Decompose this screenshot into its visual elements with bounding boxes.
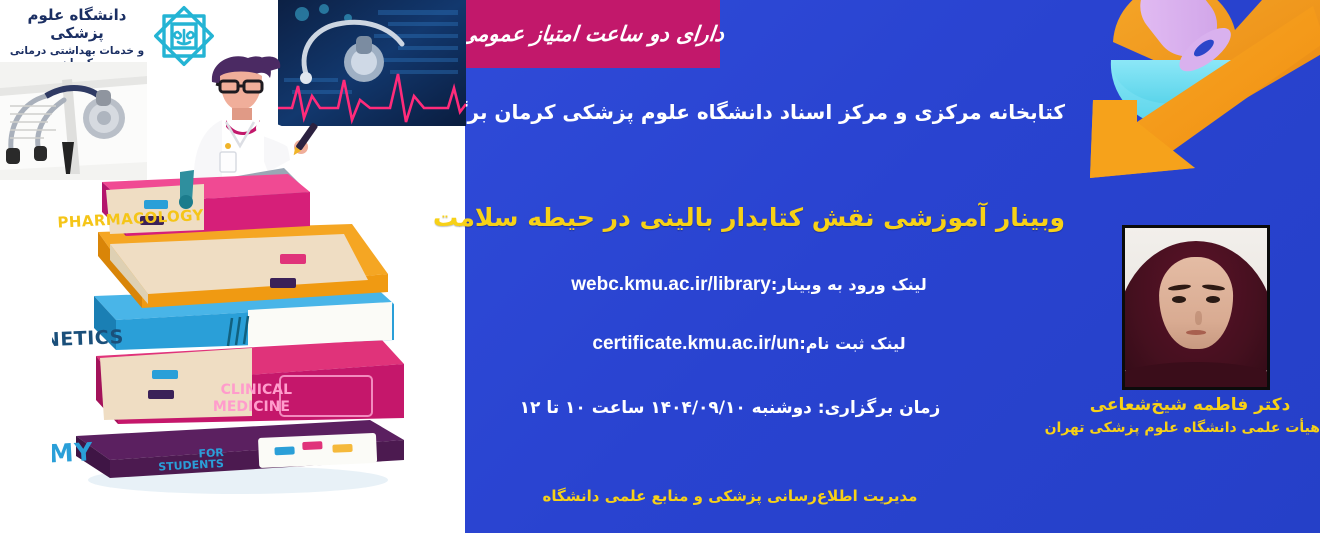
event-time-row: زمان برگزاری: دوشنبه ۱۴۰۴/۰۹/۱۰ ساعت ۱۰ … bbox=[450, 398, 1010, 418]
university-logo-line1: دانشگاه علوم پزشکی bbox=[2, 6, 152, 42]
webinar-poster: دارای دو ساعت امتیاز عمومی کتابخانه مرکز… bbox=[0, 0, 1320, 533]
department-footer: مدیریت اطلاع‌رسانی پزشکی و منابع علمی دا… bbox=[450, 487, 1010, 505]
webinar-link-row: لینک ورود به وبینار:webc.kmu.ac.ir/libra… bbox=[465, 274, 1025, 296]
stethoscope-on-book-photo bbox=[0, 62, 147, 180]
registration-link-value[interactable]: certificate.kmu.ac.ir/un bbox=[592, 333, 799, 354]
svg-text:ANATOMY: ANATOMY bbox=[52, 437, 94, 474]
book-stack-illustration: ANATOMY FOR STUDENTS CLINICAL MEDICINE M… bbox=[52, 168, 424, 498]
page-title: وبینار آموزشی نقش کتابدار بالینی در حیطه… bbox=[465, 203, 1065, 232]
university-logo-text: دانشگاه علوم پزشکی و خدمات بهداشتی درمان… bbox=[2, 6, 152, 68]
speaker-affiliation: هیأت علمی دانشگاه علوم پزشکی تهران bbox=[1050, 420, 1320, 436]
general-credit-banner: دارای دو ساعت امتیاز عمومی bbox=[465, 0, 720, 68]
registration-link-label: لینک ثبت نام: bbox=[799, 334, 905, 353]
svg-text:MEDICAL GENETICS: MEDICAL GENETICS bbox=[52, 326, 124, 357]
abstract-3d-decoration-icon bbox=[1075, 0, 1320, 207]
svg-text:MEDICINE: MEDICINE bbox=[213, 399, 290, 415]
webinar-link-label: لینک ورود به وبینار: bbox=[771, 275, 927, 294]
organizer-line: کتابخانه مرکزی و مرکز اسناد دانشگاه علوم… bbox=[465, 100, 1065, 124]
speaker-photo bbox=[1122, 225, 1270, 390]
registration-link-row: لینک ثبت نام:certificate.kmu.ac.ir/un bbox=[465, 333, 1025, 355]
speaker-name: دکتر فاطمه شیخ‌شعاعی bbox=[1060, 395, 1320, 415]
webinar-link-value[interactable]: webc.kmu.ac.ir/library bbox=[571, 274, 771, 295]
general-credit-banner-text: دارای دو ساعت امتیاز عمومی bbox=[459, 22, 726, 46]
svg-text:CLINICAL: CLINICAL bbox=[221, 382, 292, 398]
